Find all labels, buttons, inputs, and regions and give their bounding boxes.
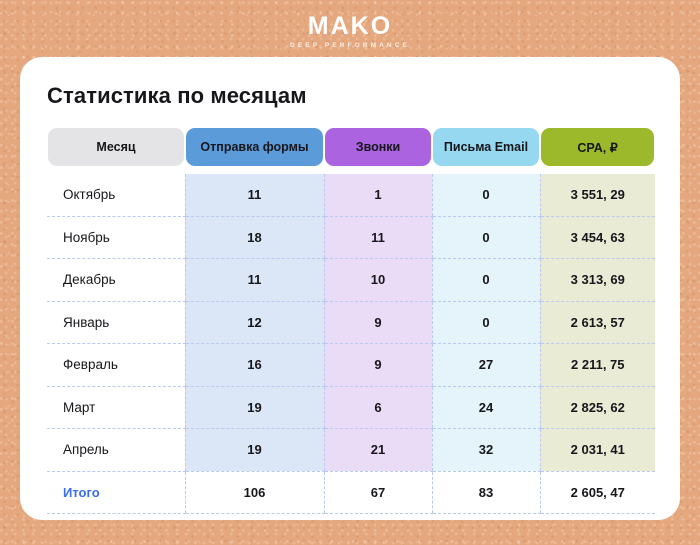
cell-forms: 18 bbox=[185, 216, 324, 259]
table-row: Апрель 19 21 32 2 031, 41 bbox=[47, 429, 655, 472]
brand-wordmark: MAKO bbox=[0, 14, 700, 39]
cell-mail: 0 bbox=[432, 259, 540, 302]
cell-calls: 1 bbox=[324, 174, 432, 216]
table-header-row: Месяц Отправка формы Звонки Письма Email… bbox=[47, 128, 655, 174]
cell-month: Январь bbox=[47, 301, 185, 344]
cell-month: Октябрь bbox=[47, 174, 185, 216]
cell-month: Февраль bbox=[47, 344, 185, 387]
cell-mail: 32 bbox=[432, 429, 540, 472]
cell-calls: 6 bbox=[324, 386, 432, 429]
cell-calls: 9 bbox=[324, 301, 432, 344]
cell-forms: 19 bbox=[185, 429, 324, 472]
cell-forms: 11 bbox=[185, 174, 324, 216]
column-header-cpa: CPA, ₽ bbox=[540, 128, 655, 174]
cell-mail: 0 bbox=[432, 174, 540, 216]
table-row: Октябрь 11 1 0 3 551, 29 bbox=[47, 174, 655, 216]
cell-month: Март bbox=[47, 386, 185, 429]
cell-month: Апрель bbox=[47, 429, 185, 472]
table-row: Февраль 16 9 27 2 211, 75 bbox=[47, 344, 655, 387]
cell-month: Декабрь bbox=[47, 259, 185, 302]
cell-month: Ноябрь bbox=[47, 216, 185, 259]
cell-totals-label: Итого bbox=[47, 471, 185, 514]
cell-mail: 0 bbox=[432, 216, 540, 259]
cell-mail: 24 bbox=[432, 386, 540, 429]
table-row: Март 19 6 24 2 825, 62 bbox=[47, 386, 655, 429]
statistics-table: Месяц Отправка формы Звонки Письма Email… bbox=[47, 128, 655, 514]
cell-totals-calls: 67 bbox=[324, 471, 432, 514]
cell-forms: 19 bbox=[185, 386, 324, 429]
brand-logo: MAKO DEEP PERFORMANCE bbox=[0, 14, 700, 50]
cell-calls: 11 bbox=[324, 216, 432, 259]
brand-tagline: DEEP PERFORMANCE bbox=[0, 43, 700, 50]
column-header-calls-label: Звонки bbox=[325, 128, 431, 166]
cell-cpa: 2 031, 41 bbox=[540, 429, 655, 472]
cell-cpa: 2 613, 57 bbox=[540, 301, 655, 344]
cell-totals-mail: 83 bbox=[432, 471, 540, 514]
statistics-table-container: Месяц Отправка формы Звонки Письма Email… bbox=[47, 128, 655, 514]
cell-cpa: 2 825, 62 bbox=[540, 386, 655, 429]
cell-cpa: 3 551, 29 bbox=[540, 174, 655, 216]
cell-calls: 10 bbox=[324, 259, 432, 302]
page-title: Статистика по месяцам bbox=[47, 83, 307, 109]
table-totals-row: Итого 106 67 83 2 605, 47 bbox=[47, 471, 655, 514]
column-header-mail: Письма Email bbox=[432, 128, 540, 174]
column-header-calls: Звонки bbox=[324, 128, 432, 174]
cell-calls: 21 bbox=[324, 429, 432, 472]
table-row: Декабрь 11 10 0 3 313, 69 bbox=[47, 259, 655, 302]
table-body: Октябрь 11 1 0 3 551, 29 Ноябрь 18 11 0 … bbox=[47, 174, 655, 514]
content-card: Статистика по месяцам Месяц Отправка фор… bbox=[20, 57, 680, 520]
cell-mail: 27 bbox=[432, 344, 540, 387]
column-header-forms: Отправка формы bbox=[185, 128, 324, 174]
table-row: Январь 12 9 0 2 613, 57 bbox=[47, 301, 655, 344]
column-header-month-label: Месяц bbox=[48, 128, 184, 166]
column-header-month: Месяц bbox=[47, 128, 185, 174]
cell-mail: 0 bbox=[432, 301, 540, 344]
cell-forms: 11 bbox=[185, 259, 324, 302]
cell-cpa: 3 454, 63 bbox=[540, 216, 655, 259]
table-row: Ноябрь 18 11 0 3 454, 63 bbox=[47, 216, 655, 259]
cell-forms: 12 bbox=[185, 301, 324, 344]
cell-totals-forms: 106 bbox=[185, 471, 324, 514]
cell-cpa: 3 313, 69 bbox=[540, 259, 655, 302]
cell-calls: 9 bbox=[324, 344, 432, 387]
cell-cpa: 2 211, 75 bbox=[540, 344, 655, 387]
column-header-cpa-label: CPA, ₽ bbox=[541, 128, 654, 166]
cell-forms: 16 bbox=[185, 344, 324, 387]
cell-totals-cpa: 2 605, 47 bbox=[540, 471, 655, 514]
table-header: Месяц Отправка формы Звонки Письма Email… bbox=[47, 128, 655, 174]
column-header-mail-label: Письма Email bbox=[433, 128, 539, 166]
column-header-forms-label: Отправка формы bbox=[186, 128, 323, 166]
